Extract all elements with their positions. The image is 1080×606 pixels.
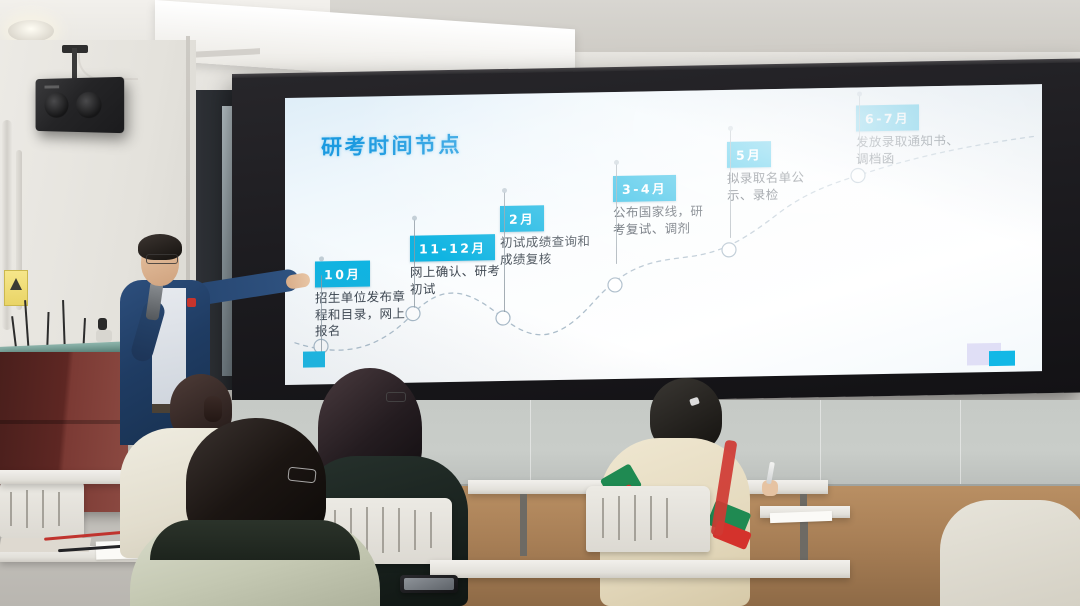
- node-month-chip: 5月: [727, 141, 771, 168]
- ceiling-light-icon: [8, 20, 54, 42]
- slide-decoration-square-left: [303, 351, 325, 367]
- node-month-chip: 11-12月: [410, 234, 495, 262]
- node-marker-5: [722, 243, 736, 257]
- wall-panel-seam: [530, 400, 531, 492]
- node-description: 公布国家线，研考复试、调剂: [613, 203, 713, 238]
- speaker-cone: [45, 92, 69, 118]
- node-marker-6: [851, 168, 865, 182]
- node-description: 招生单位发布章程和目录，网上报名: [315, 289, 415, 340]
- slide-decoration-square-right: [989, 351, 1015, 366]
- speaker-logo: [45, 85, 60, 88]
- node-stem: [414, 220, 415, 308]
- desk-front-center: [430, 560, 850, 578]
- timeline-node-3[interactable]: 2月 初试成绩查询和成绩复核: [500, 204, 625, 268]
- jacket-collar: [150, 520, 360, 560]
- node-description: 初试成绩查询和成绩复核: [500, 233, 600, 268]
- smartphone-screen: [404, 578, 454, 590]
- node-month-chip: 10月: [315, 260, 370, 287]
- presentation-slide: 研考时间节点 10月 招生单位发布章程和目录，网上报名: [285, 84, 1042, 385]
- ponytail: [204, 396, 222, 422]
- node-stem: [616, 164, 617, 264]
- glasses-icon: [146, 254, 178, 264]
- podium-edge: [0, 420, 128, 424]
- node-marker-3: [496, 311, 510, 325]
- ceiling-speaker-icon: [36, 77, 125, 133]
- mic-base: [96, 330, 112, 342]
- node-month-chip: 6-7月: [856, 104, 919, 131]
- wall-panel-seam: [960, 400, 961, 492]
- node-description: 发放录取通知书、调档函: [856, 132, 968, 167]
- speaker-cone: [76, 92, 102, 119]
- classroom-scene: 研考时间节点 10月 招生单位发布章程和目录，网上报名: [0, 0, 1080, 606]
- node-stem: [321, 275, 322, 353]
- node-stem: [730, 130, 731, 238]
- glasses-icon: [386, 392, 406, 402]
- desk-leg: [520, 494, 527, 556]
- node-description: 网上确认、研考初试: [410, 263, 510, 298]
- desk-leg: [800, 518, 808, 566]
- student-body: [940, 500, 1080, 606]
- node-description: 拟录取名单公示、录检: [727, 169, 827, 204]
- wall-panel-seam: [820, 400, 821, 492]
- node-month-chip: 2月: [500, 205, 544, 232]
- mic-knob: [98, 318, 107, 330]
- node-month-chip: 3-4月: [613, 175, 676, 202]
- projection-screen: 研考时间节点 10月 招生单位发布章程和目录，网上报名: [285, 84, 1042, 385]
- speaker-cable: [78, 52, 138, 80]
- timeline-node-5[interactable]: 5月 拟录取名单公示、录检: [727, 140, 852, 204]
- lapel-pin-icon: [187, 298, 196, 307]
- timeline-node-6[interactable]: 6-7月 发放录取通知书、调档函: [856, 103, 986, 167]
- timeline-node-4[interactable]: 3-4月 公布国家线，研考复试、调剂: [613, 174, 738, 238]
- node-stem: [504, 192, 505, 312]
- chair-right: [586, 486, 710, 552]
- node-stem: [859, 95, 860, 161]
- glasses-icon: [287, 467, 316, 484]
- speaker-mount: [72, 48, 77, 80]
- node-marker-4: [608, 278, 622, 292]
- chair-left: [0, 480, 84, 538]
